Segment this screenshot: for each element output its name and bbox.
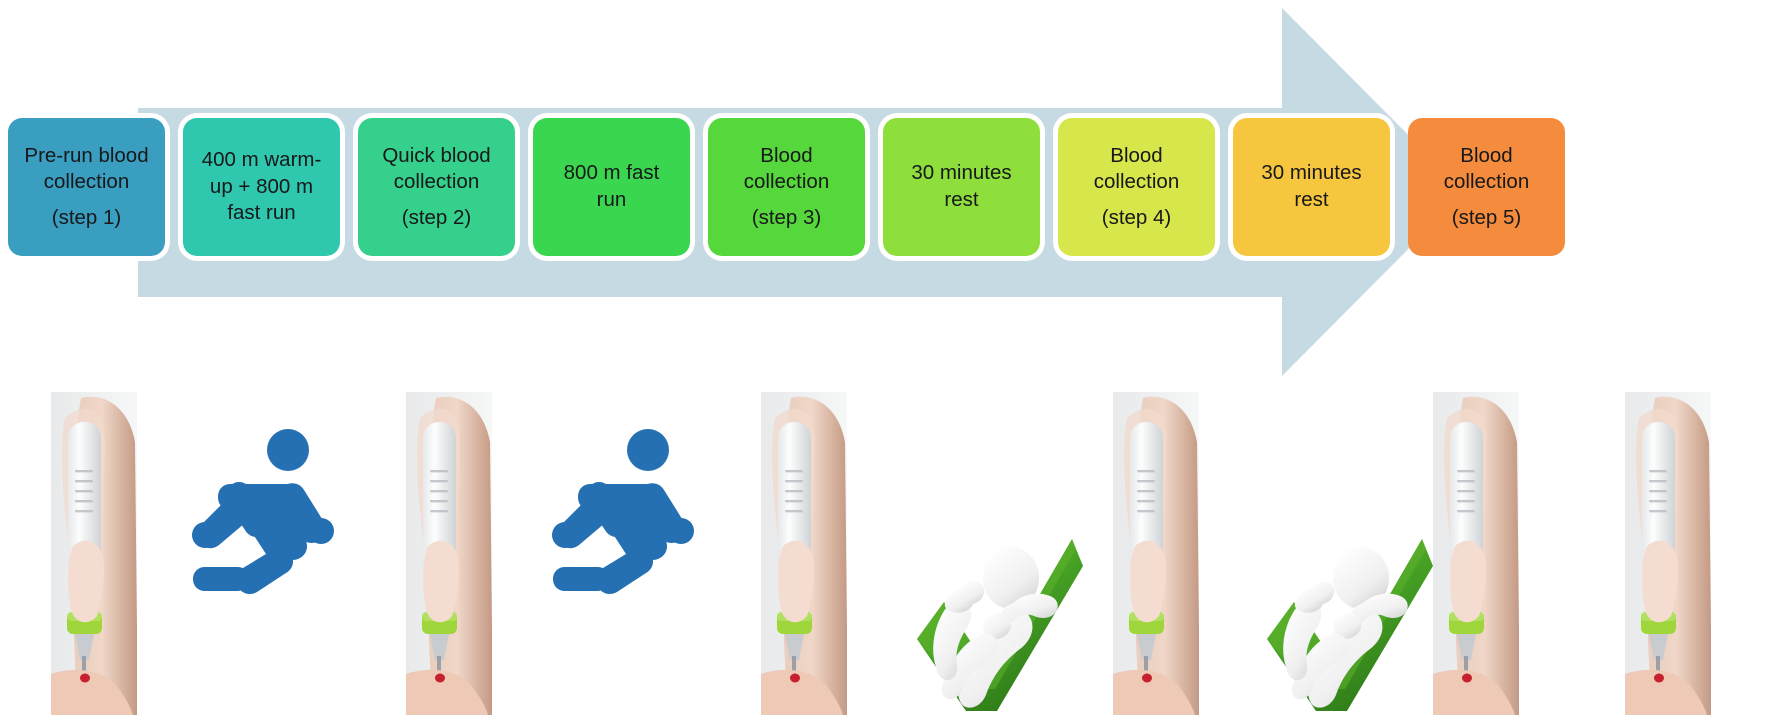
blood-lancet-photo-6 <box>1625 378 1711 715</box>
step-label-line1: Blood <box>1065 143 1208 170</box>
step-label-line2: up + 800 m <box>190 174 333 201</box>
step-box-400m-warmup-800m-fast-run[interactable]: 400 m warm- up + 800 m fast run <box>183 118 340 256</box>
step-label-line2: collection <box>1415 169 1558 196</box>
step-label-line1: 30 minutes <box>890 160 1033 187</box>
runner-icon <box>192 429 334 594</box>
step-label-sub: (step 4) <box>1065 205 1208 232</box>
rest-check-figure-1 <box>900 463 1085 715</box>
blood-lancet-photo-5 <box>1433 378 1519 715</box>
step-label-line2: collection <box>1065 169 1208 196</box>
step-label-line1: Pre-run blood <box>15 143 158 170</box>
step-label-line2: collection <box>365 169 508 196</box>
step-label-sub: (step 1) <box>15 205 158 232</box>
step-label-line1: 400 m warm- <box>190 147 333 174</box>
step-label-line3: fast run <box>190 200 333 227</box>
runner-pictogram-2 <box>545 423 705 715</box>
step-box-blood-collection-step-3[interactable]: Blood collection (step 3) <box>708 118 865 256</box>
blood-lancet-photo-2 <box>406 378 492 715</box>
step-box-800m-fast-run[interactable]: 800 m fast run <box>533 118 690 256</box>
step-label-sub: (step 2) <box>365 205 508 232</box>
step-box-quick-blood-collection[interactable]: Quick blood collection (step 2) <box>358 118 515 256</box>
step-label-line2: run <box>540 187 683 214</box>
runner-pictogram-1 <box>185 423 345 715</box>
step-box-30-minutes-rest-2[interactable]: 30 minutes rest <box>1233 118 1390 256</box>
step-label-sub: (step 5) <box>1415 205 1558 232</box>
step-label-line2: collection <box>15 169 158 196</box>
step-label-line1: 800 m fast <box>540 160 683 187</box>
blood-lancet-photo-4 <box>1113 378 1199 715</box>
illustration-strip <box>0 378 1772 715</box>
runner-icon <box>552 429 694 594</box>
step-box-blood-collection-step-5[interactable]: Blood collection (step 5) <box>1408 118 1565 256</box>
step-label-line1: 30 minutes <box>1240 160 1383 187</box>
rest-check-figure-2 <box>1250 463 1435 715</box>
blood-lancet-photo-3 <box>761 378 847 715</box>
step-label-line1: Blood <box>1415 143 1558 170</box>
step-box-pre-run-blood-collection[interactable]: Pre-run blood collection (step 1) <box>8 118 165 256</box>
step-label-line1: Quick blood <box>365 143 508 170</box>
figure-canvas: Pre-run blood collection (step 1) 400 m … <box>0 0 1772 715</box>
step-label-line1: Blood <box>715 143 858 170</box>
steps-row: Pre-run blood collection (step 1) 400 m … <box>8 118 1768 258</box>
step-label-sub: (step 3) <box>715 205 858 232</box>
step-label-line2: rest <box>890 187 1033 214</box>
step-box-blood-collection-step-4[interactable]: Blood collection (step 4) <box>1058 118 1215 256</box>
step-label-line2: rest <box>1240 187 1383 214</box>
step-label-line2: collection <box>715 169 858 196</box>
step-box-30-minutes-rest-1[interactable]: 30 minutes rest <box>883 118 1040 256</box>
blood-lancet-photo-1 <box>51 378 137 715</box>
